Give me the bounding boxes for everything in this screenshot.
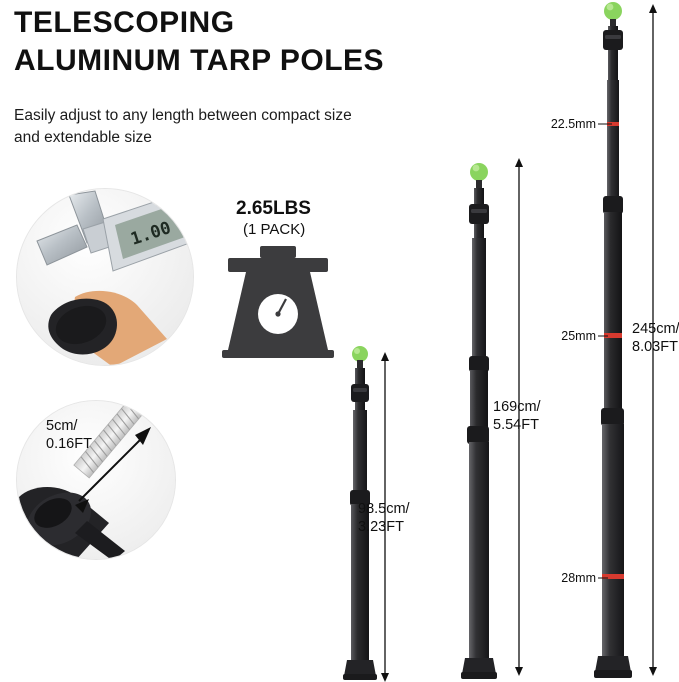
diameter-bottom-leader bbox=[598, 574, 608, 582]
page-title: TELESCOPING ALUMINUM TARP POLES bbox=[14, 4, 384, 80]
kitchen-scale-icon bbox=[218, 246, 338, 358]
caliper-photo-inset: 1.00 bbox=[16, 188, 194, 366]
diameter-top-label: 22.5mm bbox=[548, 117, 596, 131]
weight-value: 2.65LBS bbox=[236, 198, 311, 220]
page-subtitle: Easily adjust to any length between comp… bbox=[14, 105, 352, 149]
dimension-arrow-compact bbox=[378, 352, 392, 682]
diameter-bottom-label: 28mm bbox=[556, 571, 596, 585]
diameter-middle-leader bbox=[598, 332, 608, 340]
thread-measure-label: 5cm/ 0.16FT bbox=[46, 417, 92, 453]
diameter-middle-label: 25mm bbox=[556, 329, 596, 343]
poster-root: TELESCOPING ALUMINUM TARP POLES Easily a… bbox=[0, 0, 679, 682]
weight-pack-count: (1 PACK) bbox=[243, 221, 305, 238]
thread-photo-inset bbox=[16, 400, 176, 560]
diameter-top-leader bbox=[598, 120, 612, 128]
dimension-arrow-extended bbox=[646, 4, 660, 676]
dimension-arrow-medium bbox=[512, 158, 526, 676]
